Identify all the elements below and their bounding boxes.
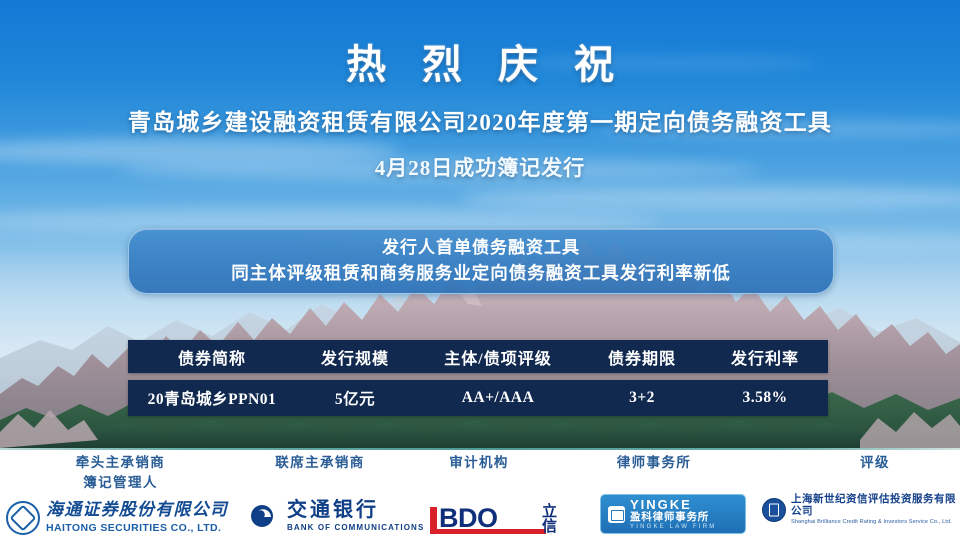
highlight-line-1: 发行人首单债务融资工具	[382, 236, 580, 261]
table-header-row: 债券简称 发行规模 主体/债项评级 债券期限 发行利率	[128, 340, 828, 373]
issue-date-line: 4月28日成功簿记发行	[0, 152, 960, 182]
cell-bond-name: 20青岛城乡PPN01	[128, 387, 296, 409]
role-label-joint-underwriter: 联席主承销商	[232, 453, 408, 473]
logo-haitong-securities: 海通证券股份有限公司 HAITONG SECURITIES CO., LTD.	[6, 501, 228, 535]
bocom-name-en: BANK OF COMMUNICATIONS	[287, 523, 424, 532]
haitong-emblem-icon	[6, 501, 40, 535]
yingke-cube-icon	[608, 506, 625, 523]
yingke-name-cn: 盈科律师事务所	[630, 512, 716, 523]
page-title: 热 烈 庆 祝	[0, 40, 960, 90]
column-header-bond-name: 债券简称	[128, 345, 296, 369]
cell-issue-size: 5亿元	[296, 387, 414, 409]
brilliance-name-cn: 上海新世纪资信评估投资服务有限公司	[791, 494, 960, 518]
highlight-line-2: 同主体评级租赁和商务服务业定向债务融资工具发行利率新低	[231, 261, 731, 286]
highlight-banner: 发行人首单债务融资工具 同主体评级租赁和商务服务业定向债务融资工具发行利率新低	[128, 228, 834, 294]
footer-divider	[0, 448, 960, 450]
role-labels: 牵头主承销商簿记管理人 联席主承销商 审计机构 律师事务所 评级	[0, 453, 960, 493]
haitong-name-cn: 海通证券股份有限公司	[46, 502, 228, 520]
column-header-coupon-rate: 发行利率	[702, 345, 828, 369]
logo-shanghai-brilliance: 上海新世纪资信评估投资服务有限公司 Shanghai Brilliance Cr…	[762, 494, 960, 526]
brilliance-emblem-icon	[762, 498, 786, 522]
cell-term: 3+2	[582, 389, 702, 407]
celebration-poster: 热 烈 庆 祝 青岛城乡建设融资租赁有限公司2020年度第一期定向债务融资工具 …	[0, 0, 960, 540]
logo-bdo: BDO 立信	[430, 505, 498, 532]
role-label-lead-underwriter: 牵头主承销商簿记管理人	[18, 453, 223, 492]
cell-coupon-rate: 3.58%	[702, 389, 828, 407]
bdo-wordmark: BDO	[439, 505, 498, 532]
bocom-name-cn: 交通银行	[287, 500, 424, 521]
footer-panel: 牵头主承销商簿记管理人 联席主承销商 审计机构 律师事务所 评级 海通证券股份有…	[0, 448, 960, 540]
yingke-name-en: YINGKE	[630, 498, 716, 512]
table-row: 20青岛城乡PPN01 5亿元 AA+/AAA 3+2 3.58%	[128, 380, 828, 416]
role-label-law-firm: 律师事务所	[566, 453, 742, 473]
table-gap	[128, 373, 828, 380]
role-label-rating-agency: 评级	[800, 453, 950, 473]
cell-credit-rating: AA+/AAA	[414, 389, 582, 407]
haitong-name-en: HAITONG SECURITIES CO., LTD.	[46, 522, 228, 534]
column-header-issue-size: 发行规模	[296, 345, 414, 369]
bdo-name-cn: 立信	[542, 504, 557, 535]
column-header-term: 债券期限	[582, 345, 702, 369]
bdo-red-bar-icon	[430, 507, 437, 531]
logo-yingke-law-firm: YINGKE 盈科律师事务所 YINGKE LAW FIRM	[600, 494, 746, 534]
role-label-auditor: 审计机构	[404, 453, 554, 473]
issue-subtitle: 青岛城乡建设融资租赁有限公司2020年度第一期定向债务融资工具	[0, 106, 960, 141]
column-header-credit-rating: 主体/债项评级	[414, 345, 582, 369]
bond-details-table: 债券简称 发行规模 主体/债项评级 债券期限 发行利率 20青岛城乡PPN01 …	[128, 340, 828, 416]
brilliance-name-en: Shanghai Brilliance Credit Rating & Inve…	[791, 520, 960, 526]
yingke-tagline-en: YINGKE LAW FIRM	[630, 524, 716, 530]
logo-bank-of-communications: 交通银行 BANK OF COMMUNICATIONS	[248, 500, 424, 532]
bdo-red-underline-icon	[430, 529, 546, 534]
partner-logos: 海通证券股份有限公司 HAITONG SECURITIES CO., LTD. …	[0, 490, 960, 538]
bocom-emblem-icon	[248, 503, 280, 529]
headline-block: 热 烈 庆 祝 青岛城乡建设融资租赁有限公司2020年度第一期定向债务融资工具 …	[0, 40, 960, 182]
